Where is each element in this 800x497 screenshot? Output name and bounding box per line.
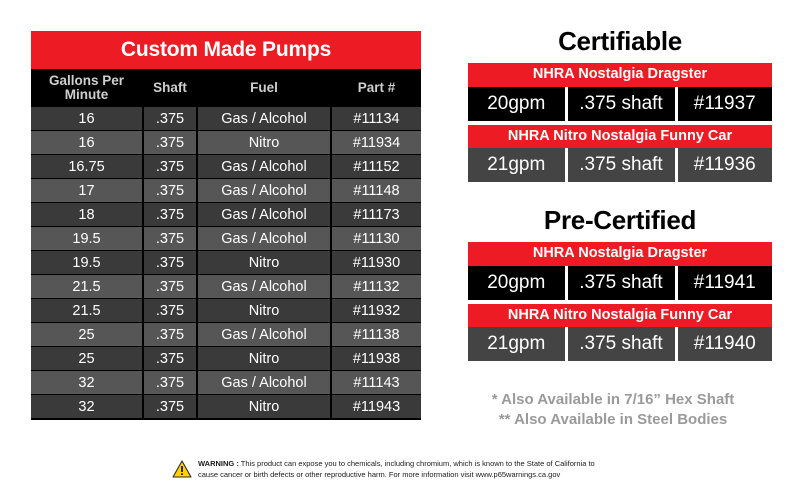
- cell-fuel: Nitro: [197, 299, 331, 323]
- cert-block: NHRA Nostalgia Dragster20gpm.375 shaft#1…: [468, 63, 772, 121]
- cell-gallons-per-minute: 16.75: [31, 155, 143, 179]
- cert-spec-row: 20gpm.375 shaft#11937: [468, 87, 772, 121]
- cert-spec-row: 21gpm.375 shaft#11936: [468, 148, 772, 182]
- cert-block: NHRA Nostalgia Dragster20gpm.375 shaft#1…: [468, 242, 772, 300]
- cert-block: NHRA Nitro Nostalgia Funny Car21gpm.375 …: [468, 304, 772, 362]
- cert-spec-table: 21gpm.375 shaft#11940: [468, 327, 772, 361]
- custom-made-pumps-title: Custom Made Pumps: [31, 31, 421, 69]
- cell-part-number: #11134: [331, 107, 421, 131]
- table-row: 18.375Gas / Alcohol#11173: [31, 203, 421, 227]
- cell-shaft: .375: [143, 323, 197, 347]
- cell-shaft: .375: [143, 203, 197, 227]
- cell-shaft: .375: [143, 347, 197, 371]
- cell-shaft: .375 shaft: [566, 327, 676, 361]
- table-row: 17.375Gas / Alcohol#11148: [31, 179, 421, 203]
- cell-part-number: #11132: [331, 275, 421, 299]
- cell-gallons-per-minute: 21.5: [31, 299, 143, 323]
- cert-band-label: NHRA Nostalgia Dragster: [468, 242, 772, 266]
- cert-band-label: NHRA Nitro Nostalgia Funny Car: [468, 125, 772, 149]
- table-row: 25.375Gas / Alcohol#11138: [31, 323, 421, 347]
- warning-triangle-icon: [172, 460, 192, 483]
- prop65-warning-label: WARNING :: [198, 459, 239, 468]
- precertified-section: Pre-Certified NHRA Nostalgia Dragster20g…: [468, 207, 772, 361]
- cell-shaft: .375: [143, 371, 197, 395]
- prop65-warning: WARNING : This product can expose you to…: [172, 459, 595, 483]
- availability-footnotes: * Also Available in 7/16” Hex Shaft ** A…: [448, 390, 778, 431]
- prop65-warning-text: WARNING : This product can expose you to…: [198, 459, 595, 481]
- cell-gallons-per-minute: 16: [31, 107, 143, 131]
- cell-part-number: #11940: [676, 327, 772, 361]
- table-header-row: Gallons Per Minute Shaft Fuel Part #: [31, 69, 421, 107]
- cert-spec-table: 20gpm.375 shaft#11937: [468, 87, 772, 121]
- table-row: 19.5.375Gas / Alcohol#11130: [31, 227, 421, 251]
- prop65-line1: This product can expose you to chemicals…: [239, 459, 595, 468]
- cell-shaft: .375: [143, 299, 197, 323]
- cell-part-number: #11937: [676, 87, 772, 121]
- table-row: 32.375Nitro#11943: [31, 395, 421, 420]
- table-row: 19.5.375Nitro#11930: [31, 251, 421, 275]
- cert-band-label: NHRA Nostalgia Dragster: [468, 63, 772, 87]
- cell-fuel: Gas / Alcohol: [197, 371, 331, 395]
- cell-shaft: .375: [143, 395, 197, 420]
- cell-part-number: #11936: [676, 148, 772, 182]
- cert-spec-row: 21gpm.375 shaft#11940: [468, 327, 772, 361]
- cell-fuel: Gas / Alcohol: [197, 203, 331, 227]
- cell-shaft: .375: [143, 179, 197, 203]
- cell-gallons-per-minute: 19.5: [31, 251, 143, 275]
- cell-part-number: #11143: [331, 371, 421, 395]
- table-row: 16.375Gas / Alcohol#11134: [31, 107, 421, 131]
- cell-part-number: #11930: [331, 251, 421, 275]
- cell-part-number: #11130: [331, 227, 421, 251]
- table-row: 21.5.375Nitro#11932: [31, 299, 421, 323]
- cell-part-number: #11148: [331, 179, 421, 203]
- cell-gallons-per-minute: 25: [31, 323, 143, 347]
- cell-gallons-per-minute: 18: [31, 203, 143, 227]
- precertified-heading: Pre-Certified: [468, 207, 772, 233]
- footnote-hex-shaft: * Also Available in 7/16” Hex Shaft: [448, 390, 778, 410]
- cell-shaft: .375: [143, 275, 197, 299]
- cell-shaft: .375: [143, 131, 197, 155]
- cell-shaft: .375: [143, 107, 197, 131]
- cell-fuel: Nitro: [197, 395, 331, 420]
- cert-spec-table: 20gpm.375 shaft#11941: [468, 266, 772, 300]
- cell-gallons-per-minute: 17: [31, 179, 143, 203]
- cell-part-number: #11941: [676, 266, 772, 300]
- cell-gallons-per-minute: 32: [31, 371, 143, 395]
- cell-gpm: 21gpm: [468, 327, 566, 361]
- column-header-gallons-per-minute: Gallons Per Minute: [31, 69, 143, 107]
- cell-part-number: #11938: [331, 347, 421, 371]
- table-row: 25.375Nitro#11938: [31, 347, 421, 371]
- cell-gallons-per-minute: 21.5: [31, 275, 143, 299]
- custom-made-pumps-panel: Custom Made Pumps Gallons Per Minute Sha…: [31, 31, 421, 420]
- prop65-line2: cause cancer or birth defects or other r…: [198, 470, 560, 479]
- cell-fuel: Gas / Alcohol: [197, 155, 331, 179]
- cell-fuel: Gas / Alcohol: [197, 323, 331, 347]
- cell-part-number: #11943: [331, 395, 421, 420]
- cell-part-number: #11138: [331, 323, 421, 347]
- cell-part-number: #11932: [331, 299, 421, 323]
- column-header-shaft: Shaft: [143, 69, 197, 107]
- cell-gpm: 21gpm: [468, 148, 566, 182]
- column-header-fuel: Fuel: [197, 69, 331, 107]
- cert-spec-table: 21gpm.375 shaft#11936: [468, 148, 772, 182]
- table-row: 16.375Nitro#11934: [31, 131, 421, 155]
- cell-gallons-per-minute: 32: [31, 395, 143, 420]
- cell-gallons-per-minute: 16: [31, 131, 143, 155]
- column-header-part-number: Part #: [331, 69, 421, 107]
- cell-shaft: .375: [143, 227, 197, 251]
- table-row: 16.75.375Gas / Alcohol#11152: [31, 155, 421, 179]
- cell-gallons-per-minute: 25: [31, 347, 143, 371]
- cell-fuel: Gas / Alcohol: [197, 107, 331, 131]
- cell-fuel: Nitro: [197, 251, 331, 275]
- custom-made-pumps-table: Gallons Per Minute Shaft Fuel Part # 16.…: [31, 69, 421, 420]
- table-row: 32.375Gas / Alcohol#11143: [31, 371, 421, 395]
- cell-fuel: Nitro: [197, 347, 331, 371]
- cell-gpm: 20gpm: [468, 87, 566, 121]
- cell-gpm: 20gpm: [468, 266, 566, 300]
- cell-shaft: .375 shaft: [566, 148, 676, 182]
- cell-part-number: #11934: [331, 131, 421, 155]
- cell-fuel: Gas / Alcohol: [197, 275, 331, 299]
- cert-spec-row: 20gpm.375 shaft#11941: [468, 266, 772, 300]
- cell-shaft: .375 shaft: [566, 266, 676, 300]
- footnote-steel-bodies: ** Also Available in Steel Bodies: [448, 410, 778, 430]
- table-row: 21.5.375Gas / Alcohol#11132: [31, 275, 421, 299]
- cell-part-number: #11173: [331, 203, 421, 227]
- cert-block: NHRA Nitro Nostalgia Funny Car21gpm.375 …: [468, 125, 772, 183]
- cell-part-number: #11152: [331, 155, 421, 179]
- cell-fuel: Nitro: [197, 131, 331, 155]
- cell-fuel: Gas / Alcohol: [197, 179, 331, 203]
- cell-fuel: Gas / Alcohol: [197, 227, 331, 251]
- cert-band-label: NHRA Nitro Nostalgia Funny Car: [468, 304, 772, 328]
- certifiable-heading: Certifiable: [468, 28, 772, 54]
- cell-shaft: .375 shaft: [566, 87, 676, 121]
- cell-shaft: .375: [143, 251, 197, 275]
- cell-gallons-per-minute: 19.5: [31, 227, 143, 251]
- cell-shaft: .375: [143, 155, 197, 179]
- certifiable-section: Certifiable NHRA Nostalgia Dragster20gpm…: [468, 28, 772, 182]
